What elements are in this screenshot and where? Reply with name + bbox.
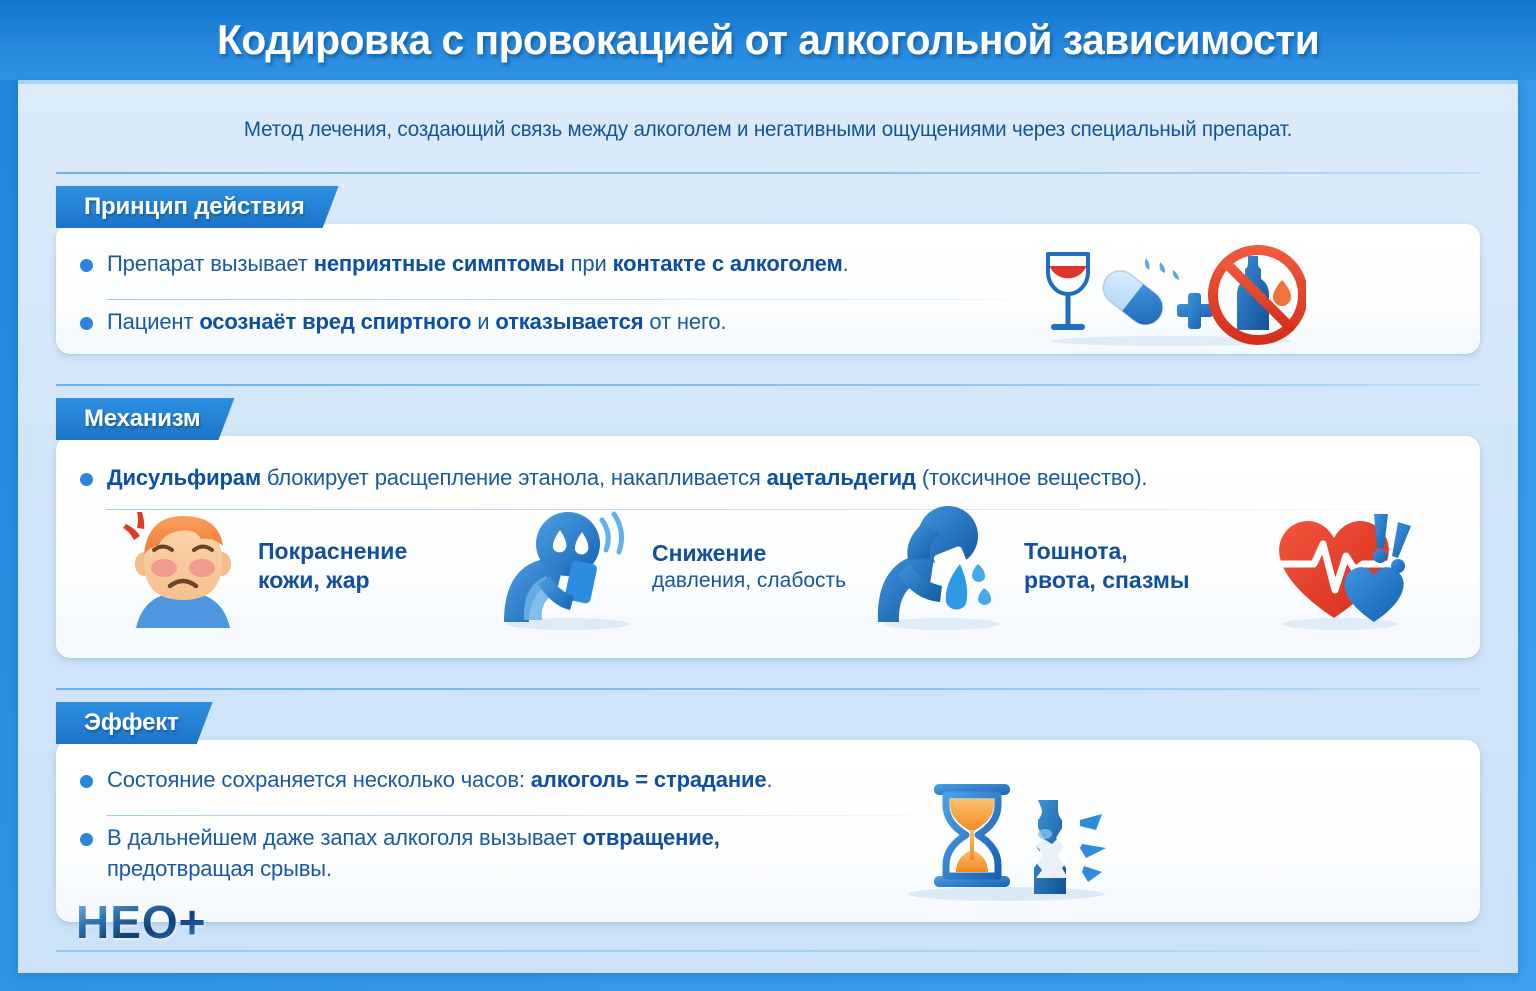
content-panel: Метод лечения, создающий связь между алк… — [18, 80, 1518, 973]
divider-section-3 — [56, 688, 1480, 690]
bullet-mechanism-1-text: Дисульфирам блокирует расщепление этанол… — [107, 462, 1147, 493]
divider-section-2 — [56, 384, 1480, 386]
symptom-item-2: Снижение давления, слабость — [502, 504, 846, 630]
symptom-label-1: Покраснение кожи, жар — [258, 537, 407, 595]
wine-glass-icon — [1048, 254, 1088, 330]
bullet-effect-2-text: В дальнейшем даже запах алкоголя вызывае… — [107, 822, 720, 884]
symptom-item-4 — [1270, 500, 1420, 630]
dizzy-person-icon — [502, 504, 642, 630]
symptom-label-2: Снижение давления, слабость — [652, 539, 846, 594]
glass-shards-icon — [1080, 814, 1106, 882]
bullet-dot-icon — [80, 473, 93, 486]
broken-bottle-icon — [1032, 800, 1070, 894]
bullet-principle-2: Пациент осознаёт вред спиртного и отказы… — [80, 306, 1020, 337]
bullet-mechanism-1: Дисульфирам блокирует расщепление этанол… — [80, 462, 1420, 493]
bullet-principle-2-text: Пациент осознаёт вред спиртного и отказы… — [107, 306, 726, 337]
heartbeat-icon — [1270, 500, 1420, 630]
divider-footer — [56, 950, 1480, 952]
symptom-item-3: Тошнота, рвота, спазмы — [874, 502, 1189, 630]
infographic-root: Кодировка с провокацией от алкогольной з… — [0, 0, 1536, 991]
bullet-dot-icon — [80, 317, 93, 330]
pill-capsule-icon — [1096, 264, 1169, 331]
bullet-dot-icon — [80, 833, 93, 846]
section-tab-mechanism[interactable]: Механизм — [56, 398, 234, 440]
section-tab-principle[interactable]: Принцип действия — [56, 186, 339, 228]
bullet-effect-1: Состояние сохраняется несколько часов: а… — [80, 764, 920, 795]
brand-logo: НЕО+ — [76, 895, 207, 949]
lede-text: Метод лечения, создающий связь между алк… — [33, 118, 1503, 142]
no-alcohol-prohibition-icon — [1213, 250, 1303, 340]
hourglass-icon — [934, 784, 1010, 887]
bullet-principle-1: Препарат вызывает неприятные симптомы пр… — [80, 248, 1020, 279]
page-title: Кодировка с провокацией от алкогольной з… — [217, 16, 1319, 64]
symptom-item-1: Покраснение кожи, жар — [118, 502, 407, 630]
plus-sign-icon — [1177, 293, 1213, 329]
bullet-effect-1-text: Состояние сохраняется несколько часов: а… — [107, 764, 772, 795]
symptom-label-3: Тошнота, рвота, спазмы — [1024, 537, 1189, 595]
title-band: Кодировка с провокацией от алкогольной з… — [0, 0, 1536, 80]
bullet-dot-icon — [80, 775, 93, 788]
vomiting-person-icon — [874, 502, 1014, 630]
bullet-effect-2: В дальнейшем даже запах алкоголя вызывае… — [80, 822, 920, 884]
bullet-separator-principle — [106, 299, 1066, 300]
sparkle-icon — [1145, 258, 1179, 280]
flushed-face-icon — [118, 502, 248, 630]
bullet-separator-effect — [106, 815, 936, 816]
divider-section-1 — [56, 172, 1480, 174]
bullet-dot-icon — [80, 259, 93, 272]
section-tab-effect[interactable]: Эффект — [56, 702, 213, 744]
effect-icon-group — [898, 772, 1128, 902]
bullet-principle-1-text: Препарат вызывает неприятные симптомы пр… — [107, 248, 849, 279]
principle-icon-group — [1036, 242, 1306, 347]
